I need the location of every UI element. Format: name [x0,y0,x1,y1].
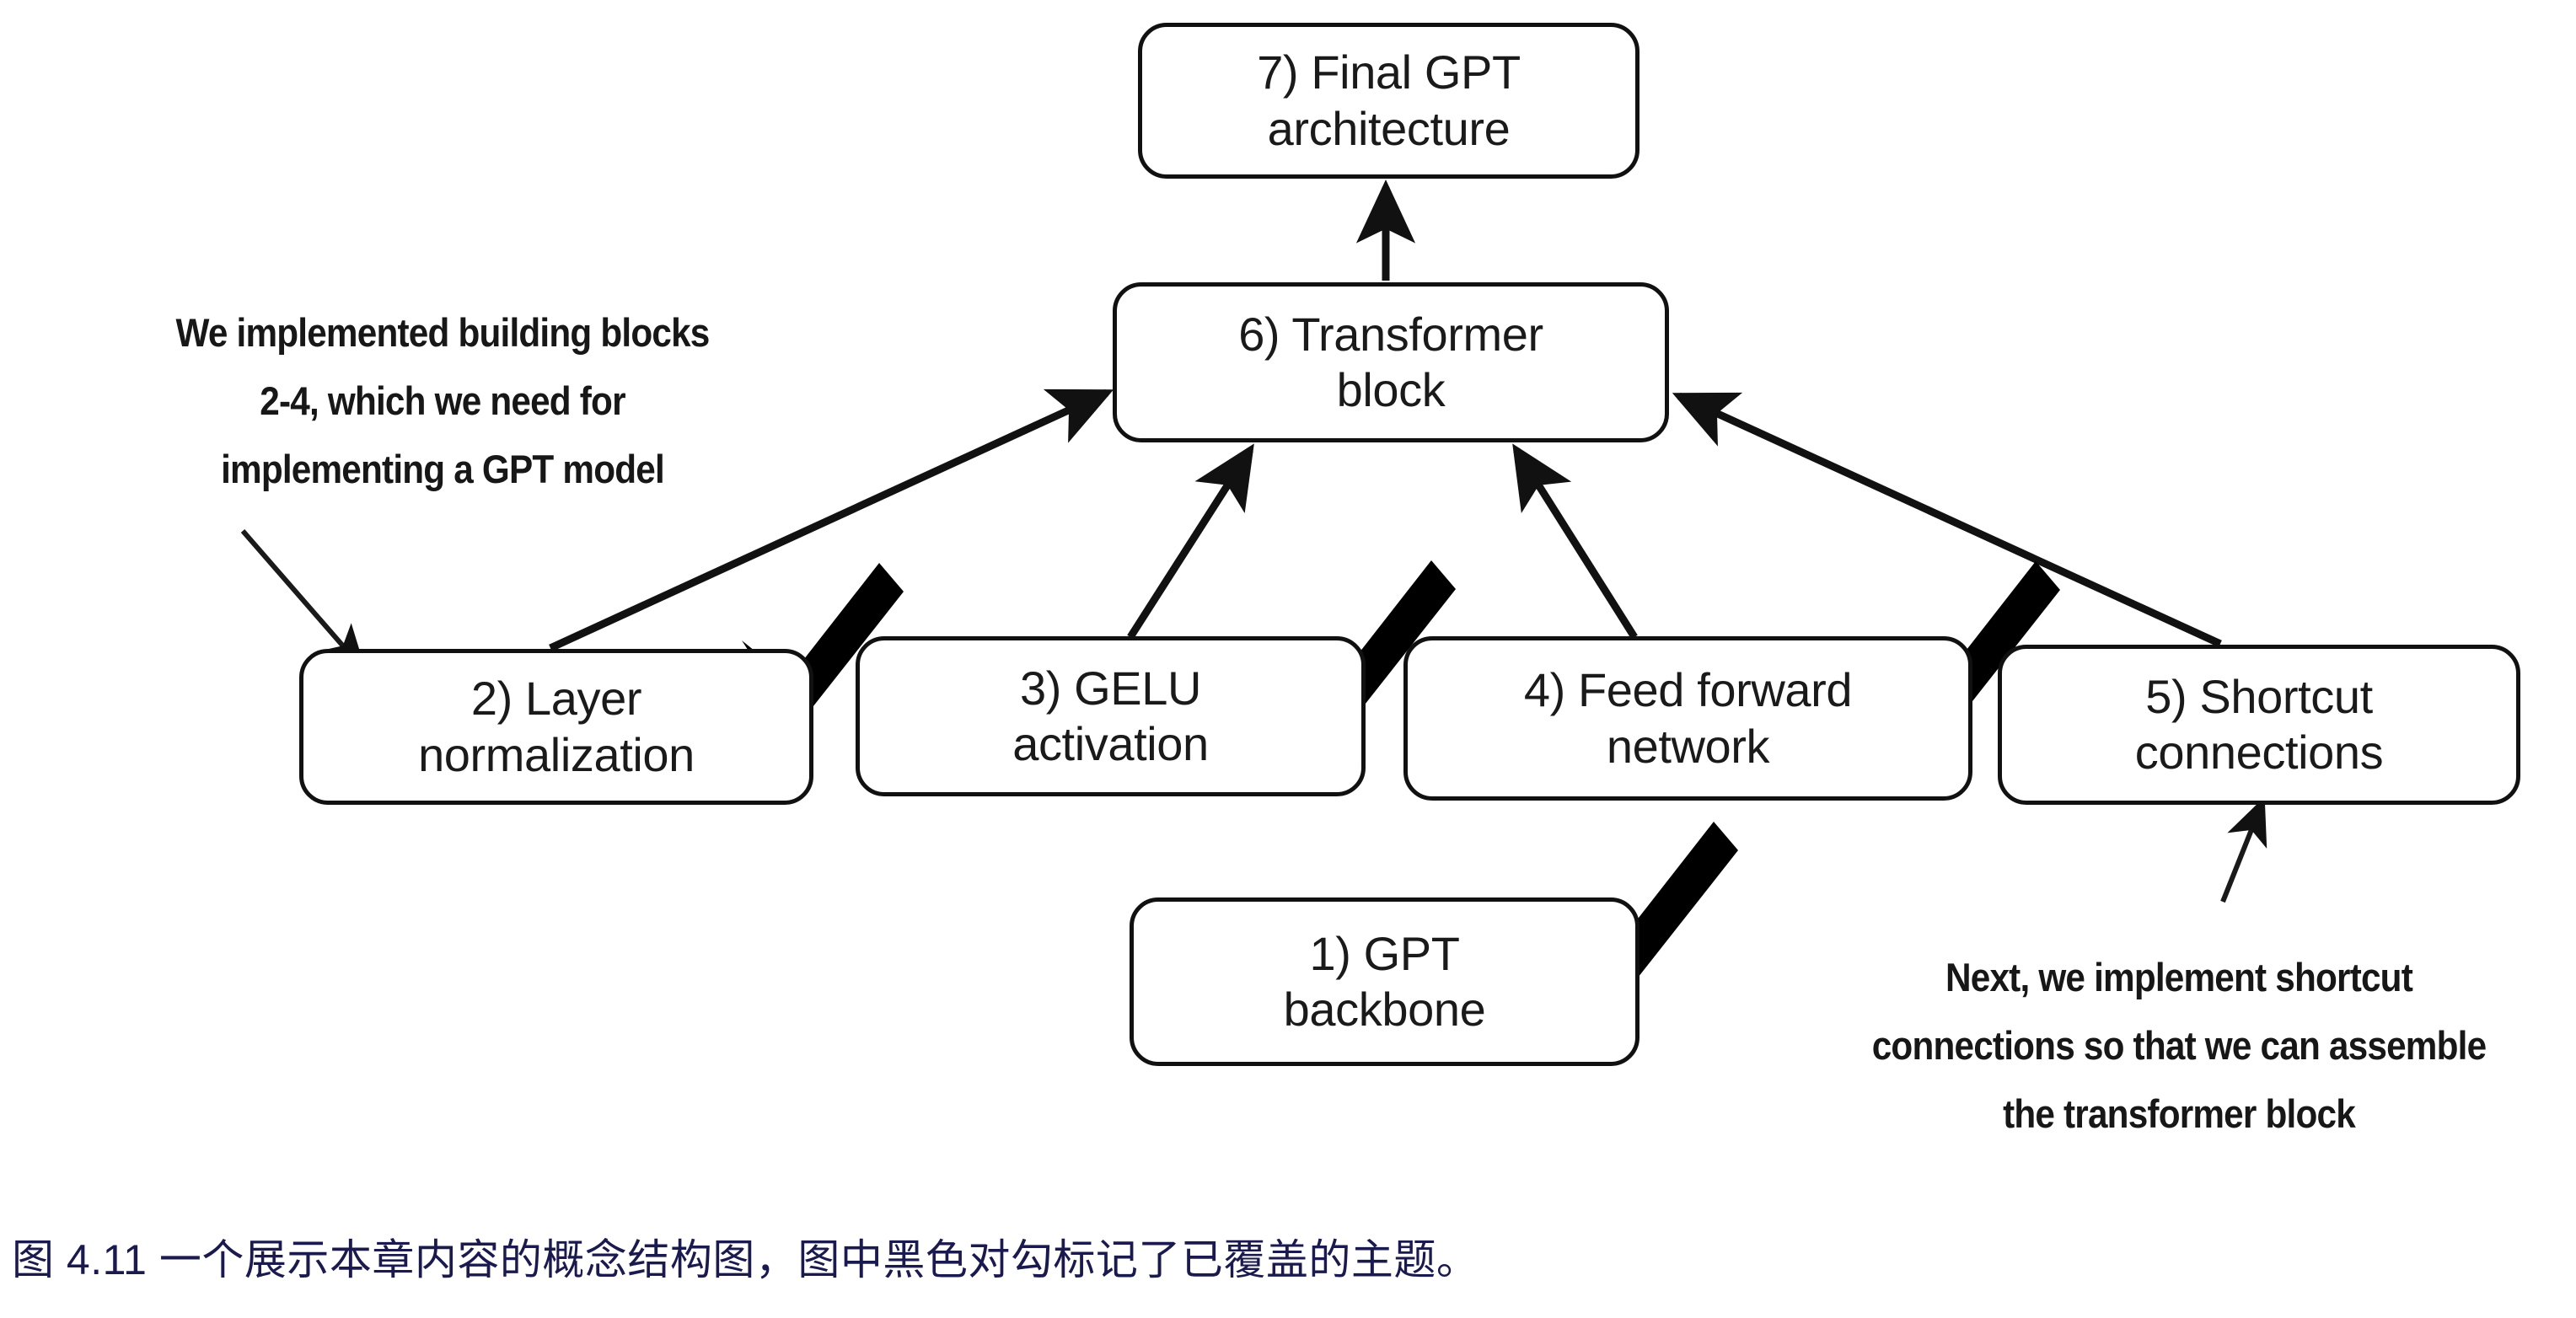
node-layer-normalization[interactable]: 2) Layer normalization [299,649,813,805]
node-transformer-block[interactable]: 6) Transformer block [1113,282,1669,442]
node-label-line2: normalization [418,727,695,783]
node-label-line1: 4) Feed forward [1524,662,1852,718]
node-label-line1: 6) Transformer [1238,307,1543,362]
annotation-right-line3: the transformer block [1827,1080,2532,1149]
node-label-line2: backbone [1284,982,1486,1037]
node-label-line1: 7) Final GPT [1257,45,1521,100]
annotation-left-line2: 2-4, which we need for [128,367,758,436]
annotation-left-line1: We implemented building blocks [128,299,758,367]
annotation-left-line3: implementing a GPT model [128,436,758,504]
callout-line-right [2223,802,2262,902]
figure-canvas: 7) Final GPT architecture 6) Transformer… [0,0,2576,1318]
annotation-right: Next, we implement shortcut connections … [1827,944,2532,1148]
edge-shortcut-to-transformer [1679,396,2220,644]
annotation-right-line2: connections so that we can assemble [1827,1012,2532,1080]
node-label-line1: 5) Shortcut [2145,669,2373,725]
node-label-line2: architecture [1268,101,1511,157]
edge-feedforward-to-transformer [1516,450,1634,637]
node-label-line1: 3) GELU [1020,661,1201,716]
node-final-gpt-architecture[interactable]: 7) Final GPT architecture [1138,23,1640,179]
node-label-line2: connections [2135,725,2383,780]
annotation-left: We implemented building blocks 2-4, whic… [128,299,758,503]
node-label-line1: 2) Layer [471,671,641,726]
node-label-line2: activation [1012,716,1209,772]
node-shortcut-connections[interactable]: 5) Shortcut connections [1998,645,2520,805]
node-label-line2: network [1607,719,1769,774]
node-label-line1: 1) GPT [1309,926,1459,982]
node-gelu-activation[interactable]: 3) GELU activation [856,636,1366,796]
edge-gelu-to-transformer [1130,450,1250,637]
annotation-right-line1: Next, we implement shortcut [1827,944,2532,1012]
node-gpt-backbone[interactable]: 1) GPT backbone [1130,897,1640,1066]
callout-line-left [243,531,362,668]
node-feed-forward-network[interactable]: 4) Feed forward network [1403,636,1972,801]
figure-caption: 图 4.11 一个展示本章内容的概念结构图，图中黑色对勾标记了已覆盖的主题。 [12,1226,1479,1287]
node-label-line2: block [1337,362,1446,418]
